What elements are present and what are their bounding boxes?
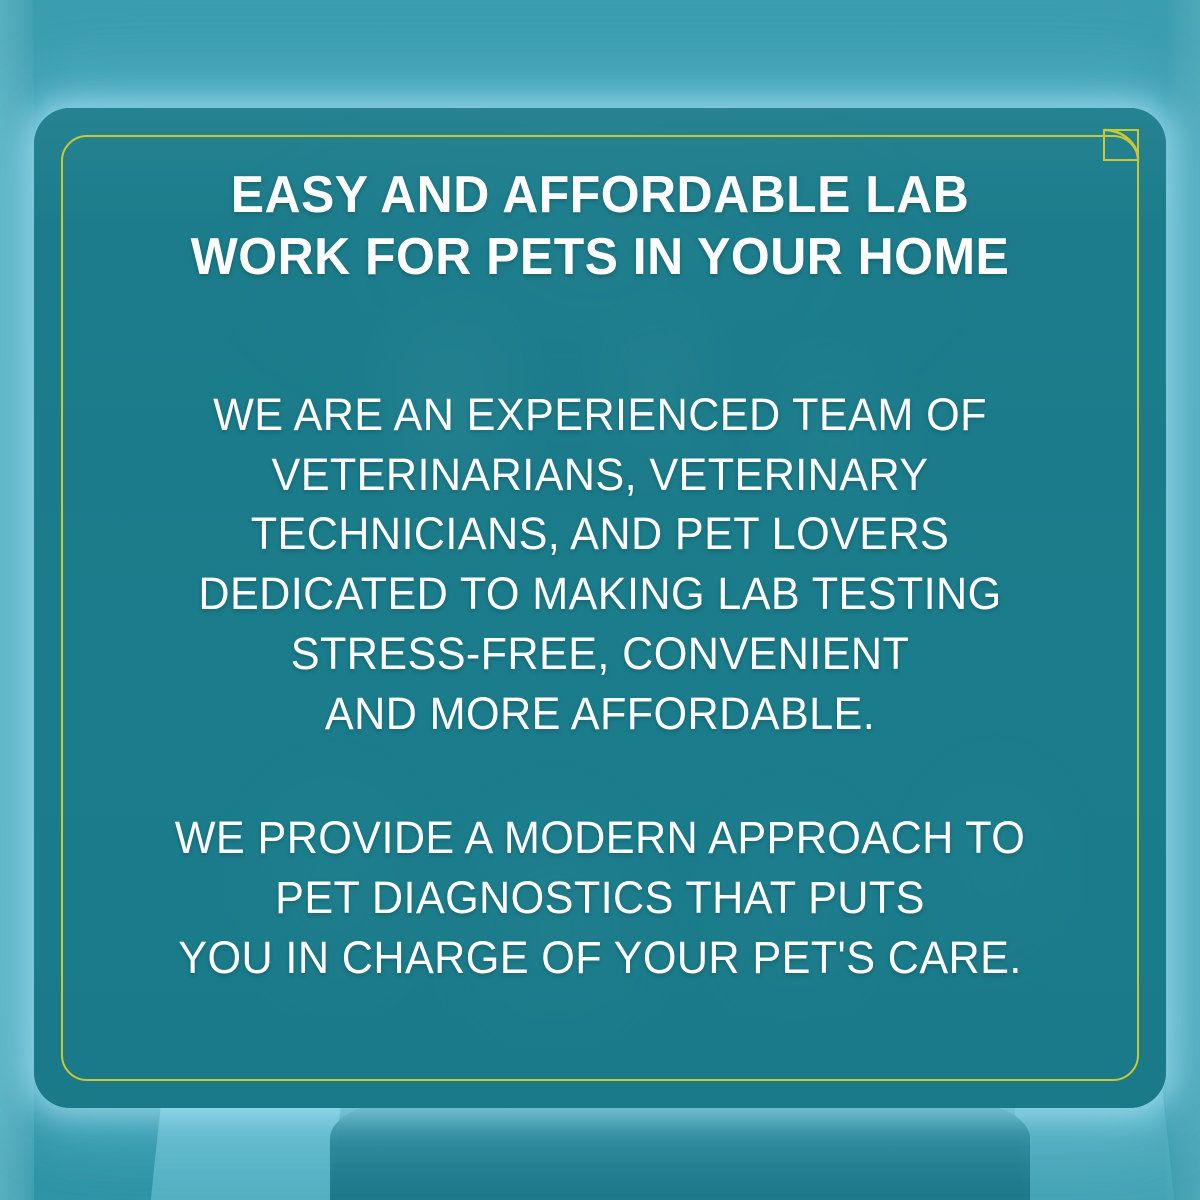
headline-line: WORK FOR PETS IN YOUR HOME xyxy=(114,226,1086,288)
background-band-right xyxy=(1166,0,1200,1200)
body-paragraph-2: WE PROVIDE A MODERN APPROACH TO PET DIAG… xyxy=(114,808,1086,988)
page-title: EASY AND AFFORDABLE LAB WORK FOR PETS IN… xyxy=(114,164,1086,289)
background-band-left xyxy=(0,0,34,1200)
body-line: STRESS-FREE, CONVENIENT xyxy=(114,624,1086,684)
corner-bracket-arc-icon xyxy=(1103,129,1145,167)
body-line: TECHNICIANS, AND PET LOVERS xyxy=(114,504,1086,564)
body-line: VETERINARIANS, VETERINARY xyxy=(114,445,1086,505)
body-line: DEDICATED TO MAKING LAB TESTING xyxy=(114,564,1086,624)
poster-stage: EASY AND AFFORDABLE LAB WORK FOR PETS IN… xyxy=(0,0,1200,1200)
body-line: PET DIAGNOSTICS THAT PUTS xyxy=(114,868,1086,928)
body-paragraph-1: WE ARE AN EXPERIENCED TEAM OF VETERINARI… xyxy=(114,385,1086,744)
body-line: WE ARE AN EXPERIENCED TEAM OF xyxy=(114,385,1086,445)
headline-line: EASY AND AFFORDABLE LAB xyxy=(114,164,1086,226)
body-line: AND MORE AFFORDABLE. xyxy=(114,684,1086,744)
footer-shape-center xyxy=(330,1098,1030,1200)
body-line: YOU IN CHARGE OF YOUR PET'S CARE. xyxy=(114,928,1086,988)
body-line: WE PROVIDE A MODERN APPROACH TO xyxy=(114,808,1086,868)
info-card: EASY AND AFFORDABLE LAB WORK FOR PETS IN… xyxy=(34,108,1166,1108)
card-content: EASY AND AFFORDABLE LAB WORK FOR PETS IN… xyxy=(94,164,1106,987)
